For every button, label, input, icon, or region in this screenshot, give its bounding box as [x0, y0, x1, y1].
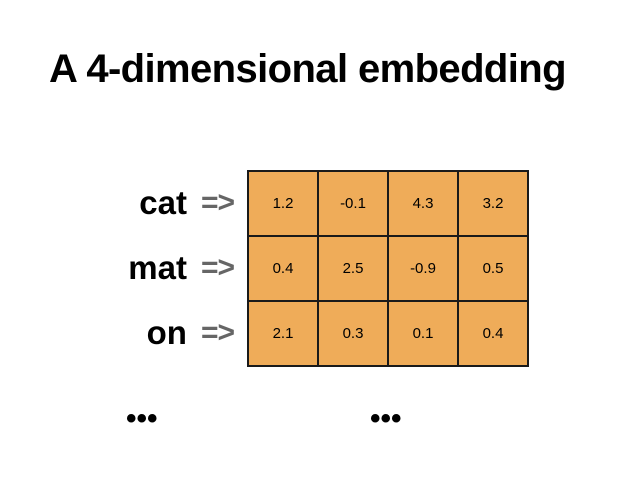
embedding-cell: 0.4 — [248, 236, 318, 301]
word-label: on — [147, 316, 187, 349]
maps-to-arrow-icon: => — [201, 188, 234, 218]
word-row-on: on => — [0, 300, 240, 365]
page-title: A 4-dimensional embedding — [49, 44, 601, 94]
embedding-cell: 0.1 — [388, 301, 458, 366]
maps-to-arrow-icon: => — [201, 318, 234, 348]
matrix-ellipsis: ••• — [370, 404, 402, 434]
maps-to-arrow-icon: => — [201, 253, 234, 283]
word-row-mat: mat => — [0, 235, 240, 300]
word-label: mat — [128, 251, 187, 284]
word-label: cat — [139, 186, 187, 219]
embedding-matrix: 1.2 -0.1 4.3 3.2 0.4 2.5 -0.9 0.5 2.1 0.… — [247, 170, 529, 367]
embedding-cell: 3.2 — [458, 171, 528, 236]
word-row-cat: cat => — [0, 170, 240, 235]
table-row: 2.1 0.3 0.1 0.4 — [248, 301, 528, 366]
embedding-cell: 1.2 — [248, 171, 318, 236]
embedding-cell: 2.1 — [248, 301, 318, 366]
embedding-cell: -0.9 — [388, 236, 458, 301]
words-ellipsis: ••• — [126, 404, 158, 434]
embedding-cell: -0.1 — [318, 171, 388, 236]
table-row: 1.2 -0.1 4.3 3.2 — [248, 171, 528, 236]
embedding-cell: 0.4 — [458, 301, 528, 366]
slide-canvas: A 4-dimensional embedding cat => mat => … — [0, 0, 638, 484]
embedding-cell: 2.5 — [318, 236, 388, 301]
embedding-cell: 0.5 — [458, 236, 528, 301]
embedding-cell: 0.3 — [318, 301, 388, 366]
table-row: 0.4 2.5 -0.9 0.5 — [248, 236, 528, 301]
embedding-cell: 4.3 — [388, 171, 458, 236]
